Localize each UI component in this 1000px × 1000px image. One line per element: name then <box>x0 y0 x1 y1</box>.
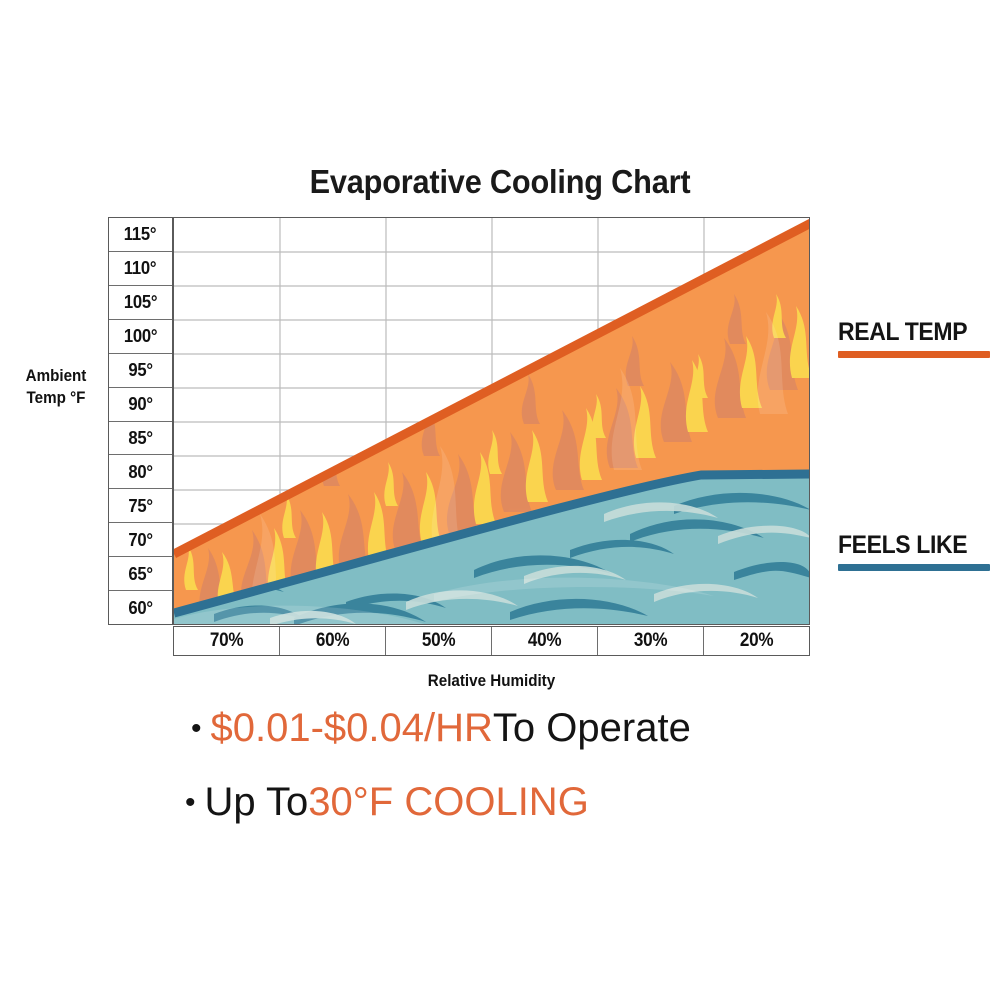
x-tick-label: 30% <box>634 630 667 652</box>
list-item: • Up To 30°F COOLING <box>175 782 855 822</box>
y-tick-label: 115° <box>124 223 156 245</box>
y-tick-cell: 100° <box>109 320 172 354</box>
y-tick-cell: 60° <box>109 591 172 624</box>
x-tick-cell: 50% <box>386 627 492 655</box>
y-axis-tick-column: 115° 110° 105° 100° 95° 90° 85° 80° 75° … <box>108 217 173 625</box>
bullet-accent-text: 30°F COOLING <box>308 782 589 822</box>
y-tick-label: 95° <box>128 359 152 381</box>
page-title: Evaporative Cooling Chart <box>35 163 965 201</box>
y-tick-cell: 95° <box>109 354 172 388</box>
y-tick-label: 80° <box>128 461 152 483</box>
x-tick-cell: 60% <box>280 627 386 655</box>
legend-label-real-temp: REAL TEMP <box>838 318 978 347</box>
y-tick-label: 75° <box>128 495 152 517</box>
y-tick-label: 60° <box>128 597 152 619</box>
x-tick-cell: 70% <box>174 627 280 655</box>
x-tick-cell: 20% <box>704 627 809 655</box>
x-tick-cell: 40% <box>492 627 598 655</box>
y-tick-label: 105° <box>124 291 157 313</box>
x-tick-label: 20% <box>740 630 773 652</box>
y-tick-cell: 75° <box>109 489 172 523</box>
legend-item-feels-like: FEELS LIKE <box>838 531 990 571</box>
bullet-marker-icon: • <box>185 788 196 818</box>
y-tick-label: 100° <box>124 325 157 347</box>
list-item: • $0.01-$0.04/HR To Operate <box>175 708 855 748</box>
y-tick-cell: 115° <box>109 218 172 252</box>
plot-svg <box>174 218 810 625</box>
y-tick-cell: 80° <box>109 455 172 489</box>
bullet-accent-text: $0.01-$0.04/HR <box>211 708 493 748</box>
y-tick-cell: 70° <box>109 523 172 557</box>
x-tick-cell: 30% <box>598 627 704 655</box>
x-tick-label: 60% <box>316 630 349 652</box>
x-axis-tick-row: 70% 60% 50% 40% 30% 20% <box>173 626 810 656</box>
legend-swatch-real-temp <box>838 351 990 358</box>
bullet-marker-icon: • <box>191 714 202 744</box>
legend-label-feels-like: FEELS LIKE <box>838 531 978 560</box>
y-axis-title-line2: Temp °F <box>12 388 100 410</box>
legend-item-real-temp: REAL TEMP <box>838 318 990 358</box>
bullet-plain-text: Up To <box>205 782 309 822</box>
legend-swatch-feels-like <box>838 564 990 571</box>
y-tick-label: 110° <box>124 257 156 279</box>
y-tick-cell: 65° <box>109 557 172 591</box>
x-tick-label: 40% <box>528 630 561 652</box>
y-tick-label: 90° <box>128 393 152 415</box>
y-tick-label: 65° <box>128 563 152 585</box>
feature-bullet-list: • $0.01-$0.04/HR To Operate • Up To 30°F… <box>175 708 855 822</box>
y-tick-label: 85° <box>128 427 152 449</box>
y-tick-cell: 105° <box>109 286 172 320</box>
y-tick-label: 70° <box>128 529 152 551</box>
y-axis-title: Ambient Temp °F <box>12 366 100 410</box>
plot-area <box>173 217 810 625</box>
y-tick-cell: 85° <box>109 422 172 456</box>
bullet-plain-text: To Operate <box>493 708 691 748</box>
x-tick-label: 70% <box>210 630 243 652</box>
x-tick-label: 50% <box>422 630 455 652</box>
chart-figure: Evaporative Cooling Chart Ambient Temp °… <box>0 0 1000 1000</box>
y-tick-cell: 110° <box>109 252 172 286</box>
y-axis-title-line1: Ambient <box>12 366 100 388</box>
y-tick-cell: 90° <box>109 388 172 422</box>
x-axis-title: Relative Humidity <box>198 672 784 691</box>
